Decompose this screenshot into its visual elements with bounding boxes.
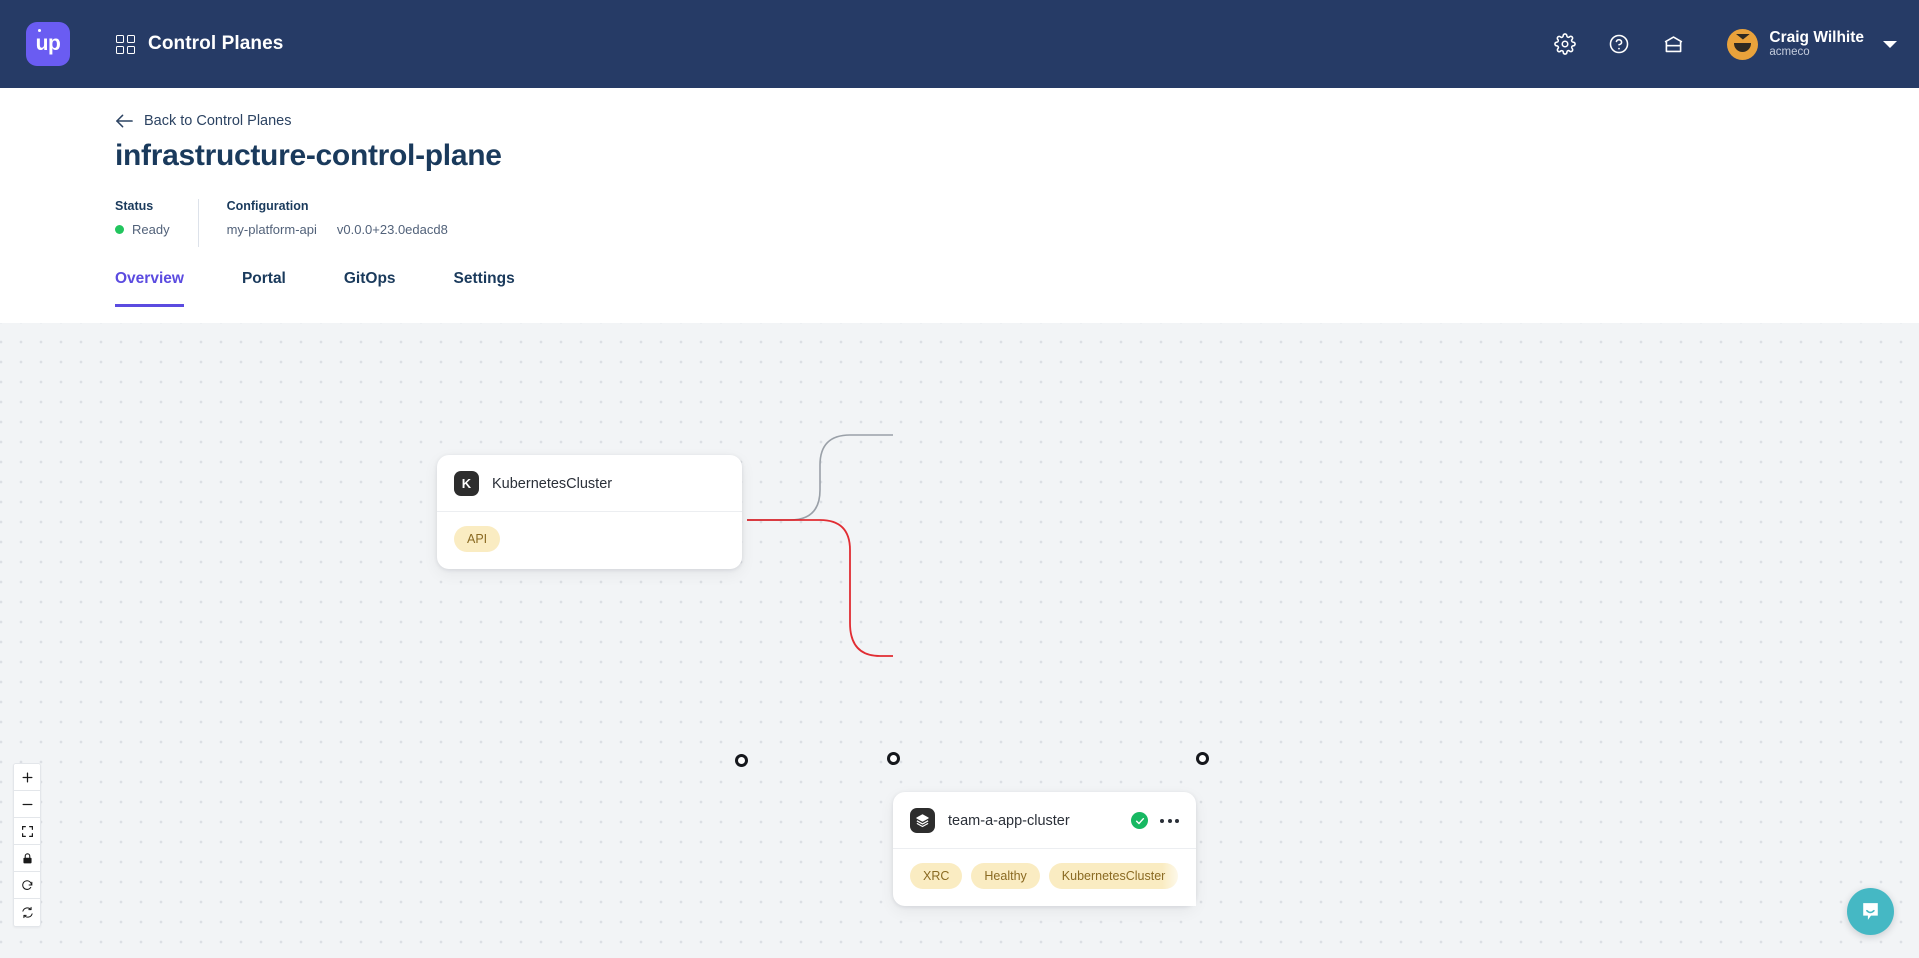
topbar-right-actions: Craig Wilhite acmeco: [1551, 29, 1897, 60]
configuration-block: Configuration my-platform-api v0.0.0+23.…: [198, 199, 476, 247]
help-circle-icon[interactable]: [1605, 30, 1633, 58]
handle-team-a-input[interactable]: [887, 752, 900, 765]
lock-icon: [21, 852, 34, 865]
layers-icon: [910, 808, 935, 833]
user-menu[interactable]: Craig Wilhite acmeco: [1727, 29, 1897, 60]
canvas-controls: [13, 763, 41, 927]
more-horizontal-icon[interactable]: [1159, 816, 1180, 826]
node-title: KubernetesCluster: [492, 476, 612, 492]
up-logo[interactable]: up: [26, 22, 70, 66]
tag-pill: KubernetesCluster: [1049, 863, 1179, 889]
configuration-name[interactable]: my-platform-api: [227, 222, 317, 237]
tab-portal[interactable]: Portal: [242, 270, 286, 307]
node-kubernetes-cluster[interactable]: K KubernetesCluster API: [437, 455, 742, 569]
status-value: Ready: [132, 222, 170, 237]
arrow-left-icon: [115, 113, 134, 129]
user-org: acmeco: [1769, 46, 1864, 59]
configuration-version: v0.0.0+23.0edacd8: [337, 222, 448, 237]
plus-icon: [21, 771, 34, 784]
user-avatar: [1727, 29, 1758, 60]
settings-gear-icon[interactable]: [1551, 30, 1579, 58]
tag-pill: API: [454, 526, 500, 552]
rotate-cw-icon: [21, 879, 34, 892]
fit-view-button[interactable]: [14, 818, 40, 845]
marketplace-icon[interactable]: [1659, 30, 1687, 58]
status-badge: Ready: [115, 222, 170, 237]
node-title: team-a-app-cluster: [948, 813, 1070, 829]
tab-overview[interactable]: Overview: [115, 270, 184, 307]
page-meta-row: Status Ready Configuration my-platform-a…: [115, 199, 1919, 247]
sync-icon: [21, 906, 34, 919]
back-to-control-planes-link[interactable]: Back to Control Planes: [115, 113, 292, 129]
back-link-label: Back to Control Planes: [144, 113, 292, 129]
up-logo-text: up: [36, 33, 61, 54]
zoom-in-button[interactable]: [14, 764, 40, 791]
lock-button[interactable]: [14, 845, 40, 872]
tab-settings[interactable]: Settings: [454, 270, 515, 307]
configuration-label: Configuration: [227, 199, 448, 213]
handle-team-a-output[interactable]: [1196, 752, 1209, 765]
refresh-button[interactable]: [14, 899, 40, 926]
top-navigation-bar: up Control Planes: [0, 0, 1919, 88]
fit-screen-icon: [21, 825, 34, 838]
chat-widget-button[interactable]: [1847, 888, 1894, 935]
status-label: Status: [115, 199, 170, 213]
configuration-value: my-platform-api v0.0.0+23.0edacd8: [227, 222, 448, 237]
nav-control-planes[interactable]: Control Planes: [116, 33, 283, 55]
user-name: Craig Wilhite: [1769, 29, 1864, 46]
node-header: K KubernetesCluster: [437, 455, 742, 511]
node-header: team-a-app-cluster: [893, 792, 1196, 848]
edge-k8s-to-team-b: [747, 520, 893, 656]
node-tags: XRC Healthy KubernetesCluster: [893, 848, 1196, 906]
status-dot-icon: [115, 225, 124, 234]
tag-pill: Healthy: [971, 863, 1039, 889]
tab-gitops[interactable]: GitOps: [344, 270, 396, 307]
nav-title: Control Planes: [148, 33, 283, 55]
grid-icon: [116, 35, 135, 54]
handle-k8s-output[interactable]: [735, 754, 748, 767]
chat-bubble-icon: [1858, 899, 1883, 924]
kubernetes-k-icon: K: [454, 471, 479, 496]
node-status-area: [1131, 812, 1180, 829]
edge-k8s-to-team-a: [747, 435, 893, 520]
tag-pill: XRC: [910, 863, 962, 889]
graph-canvas[interactable]: K KubernetesCluster API team-a-app-clust…: [0, 323, 1919, 958]
node-tags: API: [437, 511, 742, 569]
tab-bar: Overview Portal GitOps Settings: [115, 270, 573, 307]
zoom-out-button[interactable]: [14, 791, 40, 818]
status-block: Status Ready: [115, 199, 198, 247]
node-team-a-app-cluster[interactable]: team-a-app-cluster XRC Healthy Kubernete…: [893, 792, 1196, 906]
chevron-down-icon[interactable]: [1883, 41, 1897, 48]
minus-icon: [21, 798, 34, 811]
page-title: infrastructure-control-plane: [115, 139, 1919, 173]
check-circle-icon: [1131, 812, 1148, 829]
reset-button[interactable]: [14, 872, 40, 899]
